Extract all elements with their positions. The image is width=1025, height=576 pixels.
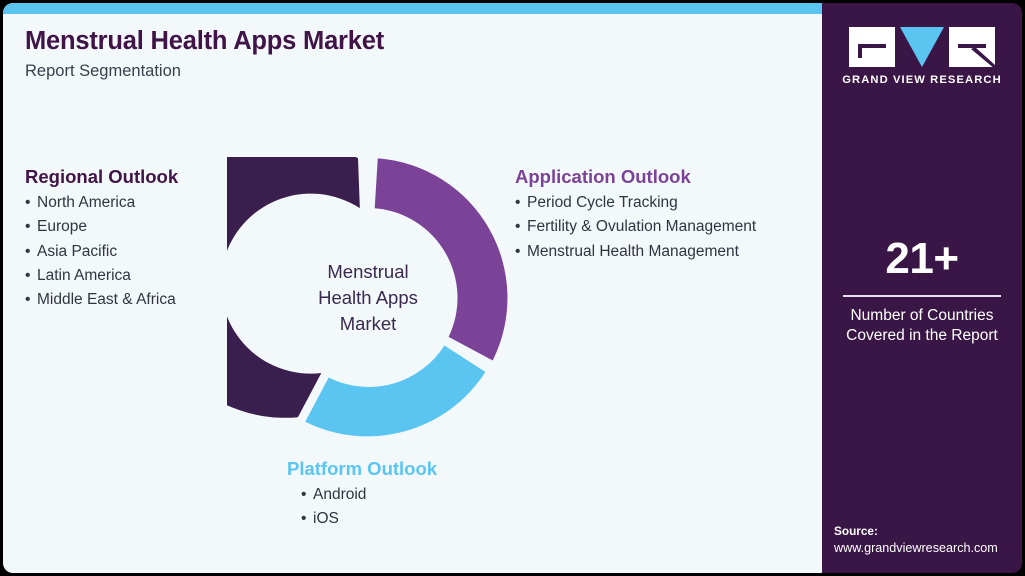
- content-panel: Menstrual Health Apps Market Report Segm…: [3, 3, 822, 573]
- logo-r-icon: [949, 27, 995, 67]
- application-outlook-heading: Application Outlook: [515, 165, 756, 188]
- title-block: Menstrual Health Apps Market Report Segm…: [25, 27, 725, 82]
- logo-g-icon: [849, 27, 895, 67]
- source-label: Source:: [834, 523, 1022, 540]
- page-title: Menstrual Health Apps Market: [25, 27, 725, 56]
- stat-label: Number of Countries Covered in the Repor…: [822, 306, 1022, 347]
- brand-panel: GRAND VIEW RESEARCH 21+ Number of Countr…: [822, 3, 1022, 573]
- donut-segment-regional[interactable]: [227, 157, 360, 418]
- list-item: Latin America: [25, 264, 178, 288]
- infographic-canvas: Menstrual Health Apps Market Report Segm…: [0, 0, 1025, 576]
- logo-v-triangle-icon: [899, 27, 945, 67]
- stat-block: 21+ Number of Countries Covered in the R…: [822, 237, 1022, 347]
- regional-outlook-block: Regional Outlook North America Europe As…: [25, 165, 178, 313]
- list-item: Europe: [25, 215, 178, 239]
- logo-marks: [849, 27, 995, 67]
- list-item: Fertility & Ovulation Management: [515, 215, 756, 239]
- donut-segment-platform[interactable]: [305, 346, 485, 437]
- platform-outlook-block: Platform Outlook Android iOS: [287, 457, 437, 532]
- brand-logo: GRAND VIEW RESEARCH: [822, 27, 1022, 86]
- list-item: Asia Pacific: [25, 240, 178, 264]
- stat-label-line-1: Number of Countries: [822, 306, 1022, 326]
- list-item: Middle East & Africa: [25, 288, 178, 312]
- top-accent-bar: [3, 3, 822, 14]
- list-item: Period Cycle Tracking: [515, 191, 756, 215]
- list-item: North America: [25, 191, 178, 215]
- list-item: iOS: [301, 507, 437, 531]
- donut-chart-svg: [227, 157, 509, 439]
- source-url[interactable]: www.grandviewresearch.com: [834, 540, 1022, 557]
- platform-outlook-list: Android iOS: [287, 483, 437, 532]
- page-subtitle: Report Segmentation: [25, 62, 725, 82]
- regional-outlook-list: North America Europe Asia Pacific Latin …: [25, 191, 178, 313]
- donut-chart: Menstrual Health Apps Market: [227, 157, 509, 439]
- platform-outlook-heading: Platform Outlook: [287, 457, 437, 480]
- application-outlook-list: Period Cycle Tracking Fertility & Ovulat…: [515, 191, 756, 264]
- list-item: Menstrual Health Management: [515, 240, 756, 264]
- stat-label-line-2: Covered in the Report: [822, 326, 1022, 346]
- stat-divider: [843, 295, 1001, 297]
- logo-wordmark: GRAND VIEW RESEARCH: [842, 74, 1002, 86]
- regional-outlook-heading: Regional Outlook: [25, 165, 178, 188]
- application-outlook-block: Application Outlook Period Cycle Trackin…: [515, 165, 756, 264]
- donut-segment-application[interactable]: [375, 158, 508, 360]
- stat-value: 21+: [822, 237, 1022, 281]
- source-block: Source: www.grandviewresearch.com: [834, 523, 1022, 557]
- list-item: Android: [301, 483, 437, 507]
